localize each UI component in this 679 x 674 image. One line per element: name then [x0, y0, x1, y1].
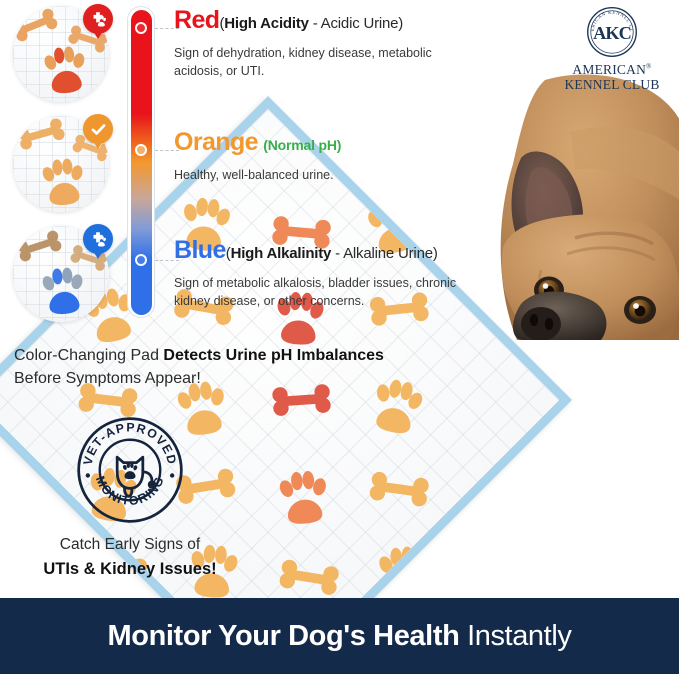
legend-qualifier-bold-red: High Acidity: [224, 15, 309, 32]
banner-headline: Monitor Your Dog's Health Instantly: [108, 620, 572, 653]
legend-heading-red: Red(High Acidity - Acidic Urine): [174, 6, 504, 35]
legend-qualifier-rest-orange: ): [337, 137, 341, 153]
banner-headline-bold: Monitor Your Dog's Health: [108, 620, 460, 652]
bottom-banner: Monitor Your Dog's Health Instantly: [0, 598, 679, 674]
cross-paw-icon: [89, 230, 107, 248]
akc-name-line-1: AMERICAN®: [559, 62, 665, 77]
legend-entry-blue: Blue(High Alkalinity - Alkaline Urine) S…: [174, 236, 504, 310]
akc-monogram: AKC: [593, 23, 631, 43]
legend-description-blue: Sign of metabolic alkalosis, bladder iss…: [174, 274, 474, 310]
legend-entry-orange: Orange (Normal pH) Healthy, well-balance…: [174, 128, 504, 184]
tagline-bold: Detects Urine pH Imbalances: [163, 347, 384, 364]
legend-color-name-red: Red: [174, 6, 219, 34]
akc-seal-icon: AMERICAN KENNEL CLUB AKC: [586, 6, 638, 58]
catch-line-1: Catch Early Signs of: [60, 536, 200, 553]
legend-entry-red: Red(High Acidity - Acidic Urine) Sign of…: [174, 6, 504, 80]
akc-american-text: AMERICAN: [572, 62, 646, 77]
check-icon: [89, 120, 108, 139]
vet-approved-block: VET-APPROVED MONITORING: [40, 415, 220, 580]
legend-qualifier-rest-red: - Acidic Urine): [309, 15, 403, 32]
banner-headline-light: Instantly: [459, 620, 571, 652]
akc-registered-mark: ®: [646, 63, 652, 71]
pad-swatch-orange-badge: [83, 114, 113, 144]
ph-marker-orange[interactable]: [135, 144, 147, 156]
legend-description-orange: Healthy, well-balanced urine.: [174, 166, 474, 184]
legend-heading-blue: Blue(High Alkalinity - Alkaline Urine): [174, 236, 504, 265]
legend-description-red: Sign of dehydration, kidney disease, met…: [174, 44, 474, 80]
legend-heading-orange: Orange (Normal pH): [174, 128, 504, 157]
legend-color-name-blue: Blue: [174, 236, 226, 264]
legend-color-name-orange: Orange: [174, 128, 258, 156]
ph-scale-gradient: [131, 10, 152, 315]
badge-tail-red: [93, 31, 103, 39]
tagline: Color-Changing Pad Detects Urine pH Imba…: [14, 345, 414, 390]
pad-swatch-orange[interactable]: [13, 116, 109, 212]
seal-arc-top-text: VET-APPROVED: [81, 420, 180, 466]
legend-qualifier-rest-blue: - Alkaline Urine): [331, 245, 437, 262]
badge-tail-blue: [93, 251, 103, 259]
pad-swatch-red[interactable]: [13, 6, 109, 102]
akc-logo: AMERICAN KENNEL CLUB AKC AMERICAN® KENNE…: [559, 6, 665, 92]
catch-line-2: UTIs & Kidney Issues!: [40, 558, 220, 580]
vet-approved-seal-icon: VET-APPROVED MONITORING: [75, 415, 185, 525]
catch-early-signs-text: Catch Early Signs of UTIs & Kidney Issue…: [40, 535, 220, 580]
infographic-poster: Red(High Acidity - Acidic Urine) Sign of…: [0, 0, 679, 674]
svg-text:VET-APPROVED: VET-APPROVED: [81, 420, 180, 466]
pad-swatch-column: [13, 6, 121, 336]
ph-marker-blue[interactable]: [135, 254, 147, 266]
legend-qualifier-bold-blue: High Alkalinity: [231, 245, 332, 262]
ph-gradient-scale[interactable]: [127, 6, 155, 318]
badge-tail-orange: [93, 141, 103, 149]
ph-marker-red[interactable]: [135, 22, 147, 34]
legend-qualifier-bold-orange: Normal pH: [268, 137, 337, 153]
tagline-lead: Color-Changing Pad: [14, 347, 163, 364]
pad-swatch-blue-badge: [83, 224, 113, 254]
pad-swatch-blue[interactable]: [13, 226, 109, 322]
cross-paw-icon: [89, 10, 107, 28]
tagline-tail: Before Symptoms Appear!: [14, 370, 201, 387]
akc-name-line-2: KENNEL CLUB: [559, 77, 665, 92]
pad-swatch-red-badge: [83, 4, 113, 34]
